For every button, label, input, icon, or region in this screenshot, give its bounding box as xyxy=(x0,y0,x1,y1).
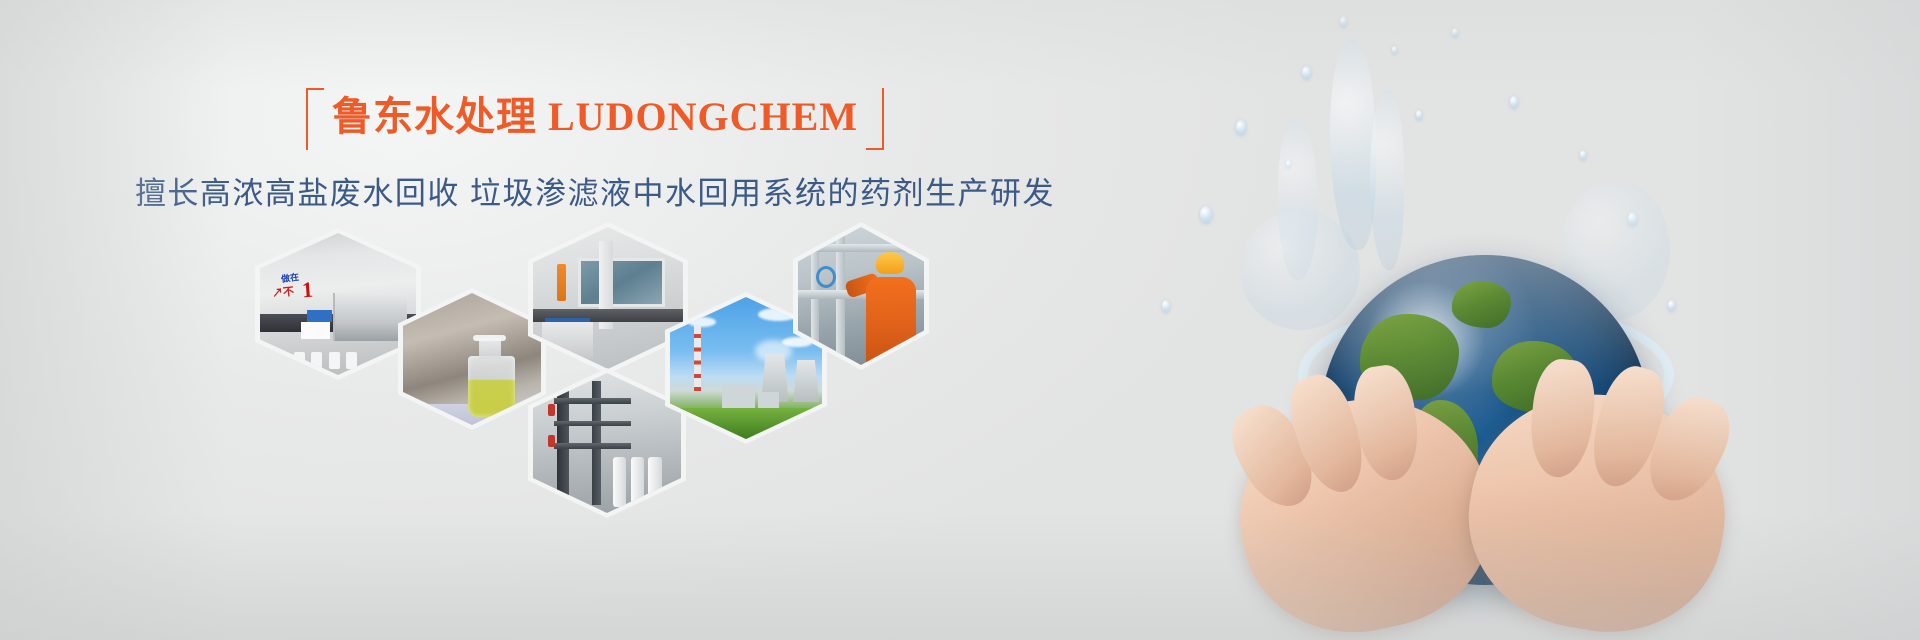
hex-photo-lab-bench xyxy=(528,222,688,374)
wall-slogan: 做在↗不1 xyxy=(272,271,347,302)
hero-banner: 鲁东水处理 LUDONGCHEM 擅长高浓高盐废水回收 垃圾渗滤液中水回用系统的… xyxy=(0,0,1920,640)
hex-photo-laboratory-room: 做在↗不1 xyxy=(255,228,421,380)
water-globe-artwork xyxy=(1040,0,1920,640)
hexagon-photo-cluster: 做在↗不1 xyxy=(0,0,1060,640)
hex-photo-piping-skid xyxy=(528,368,686,518)
